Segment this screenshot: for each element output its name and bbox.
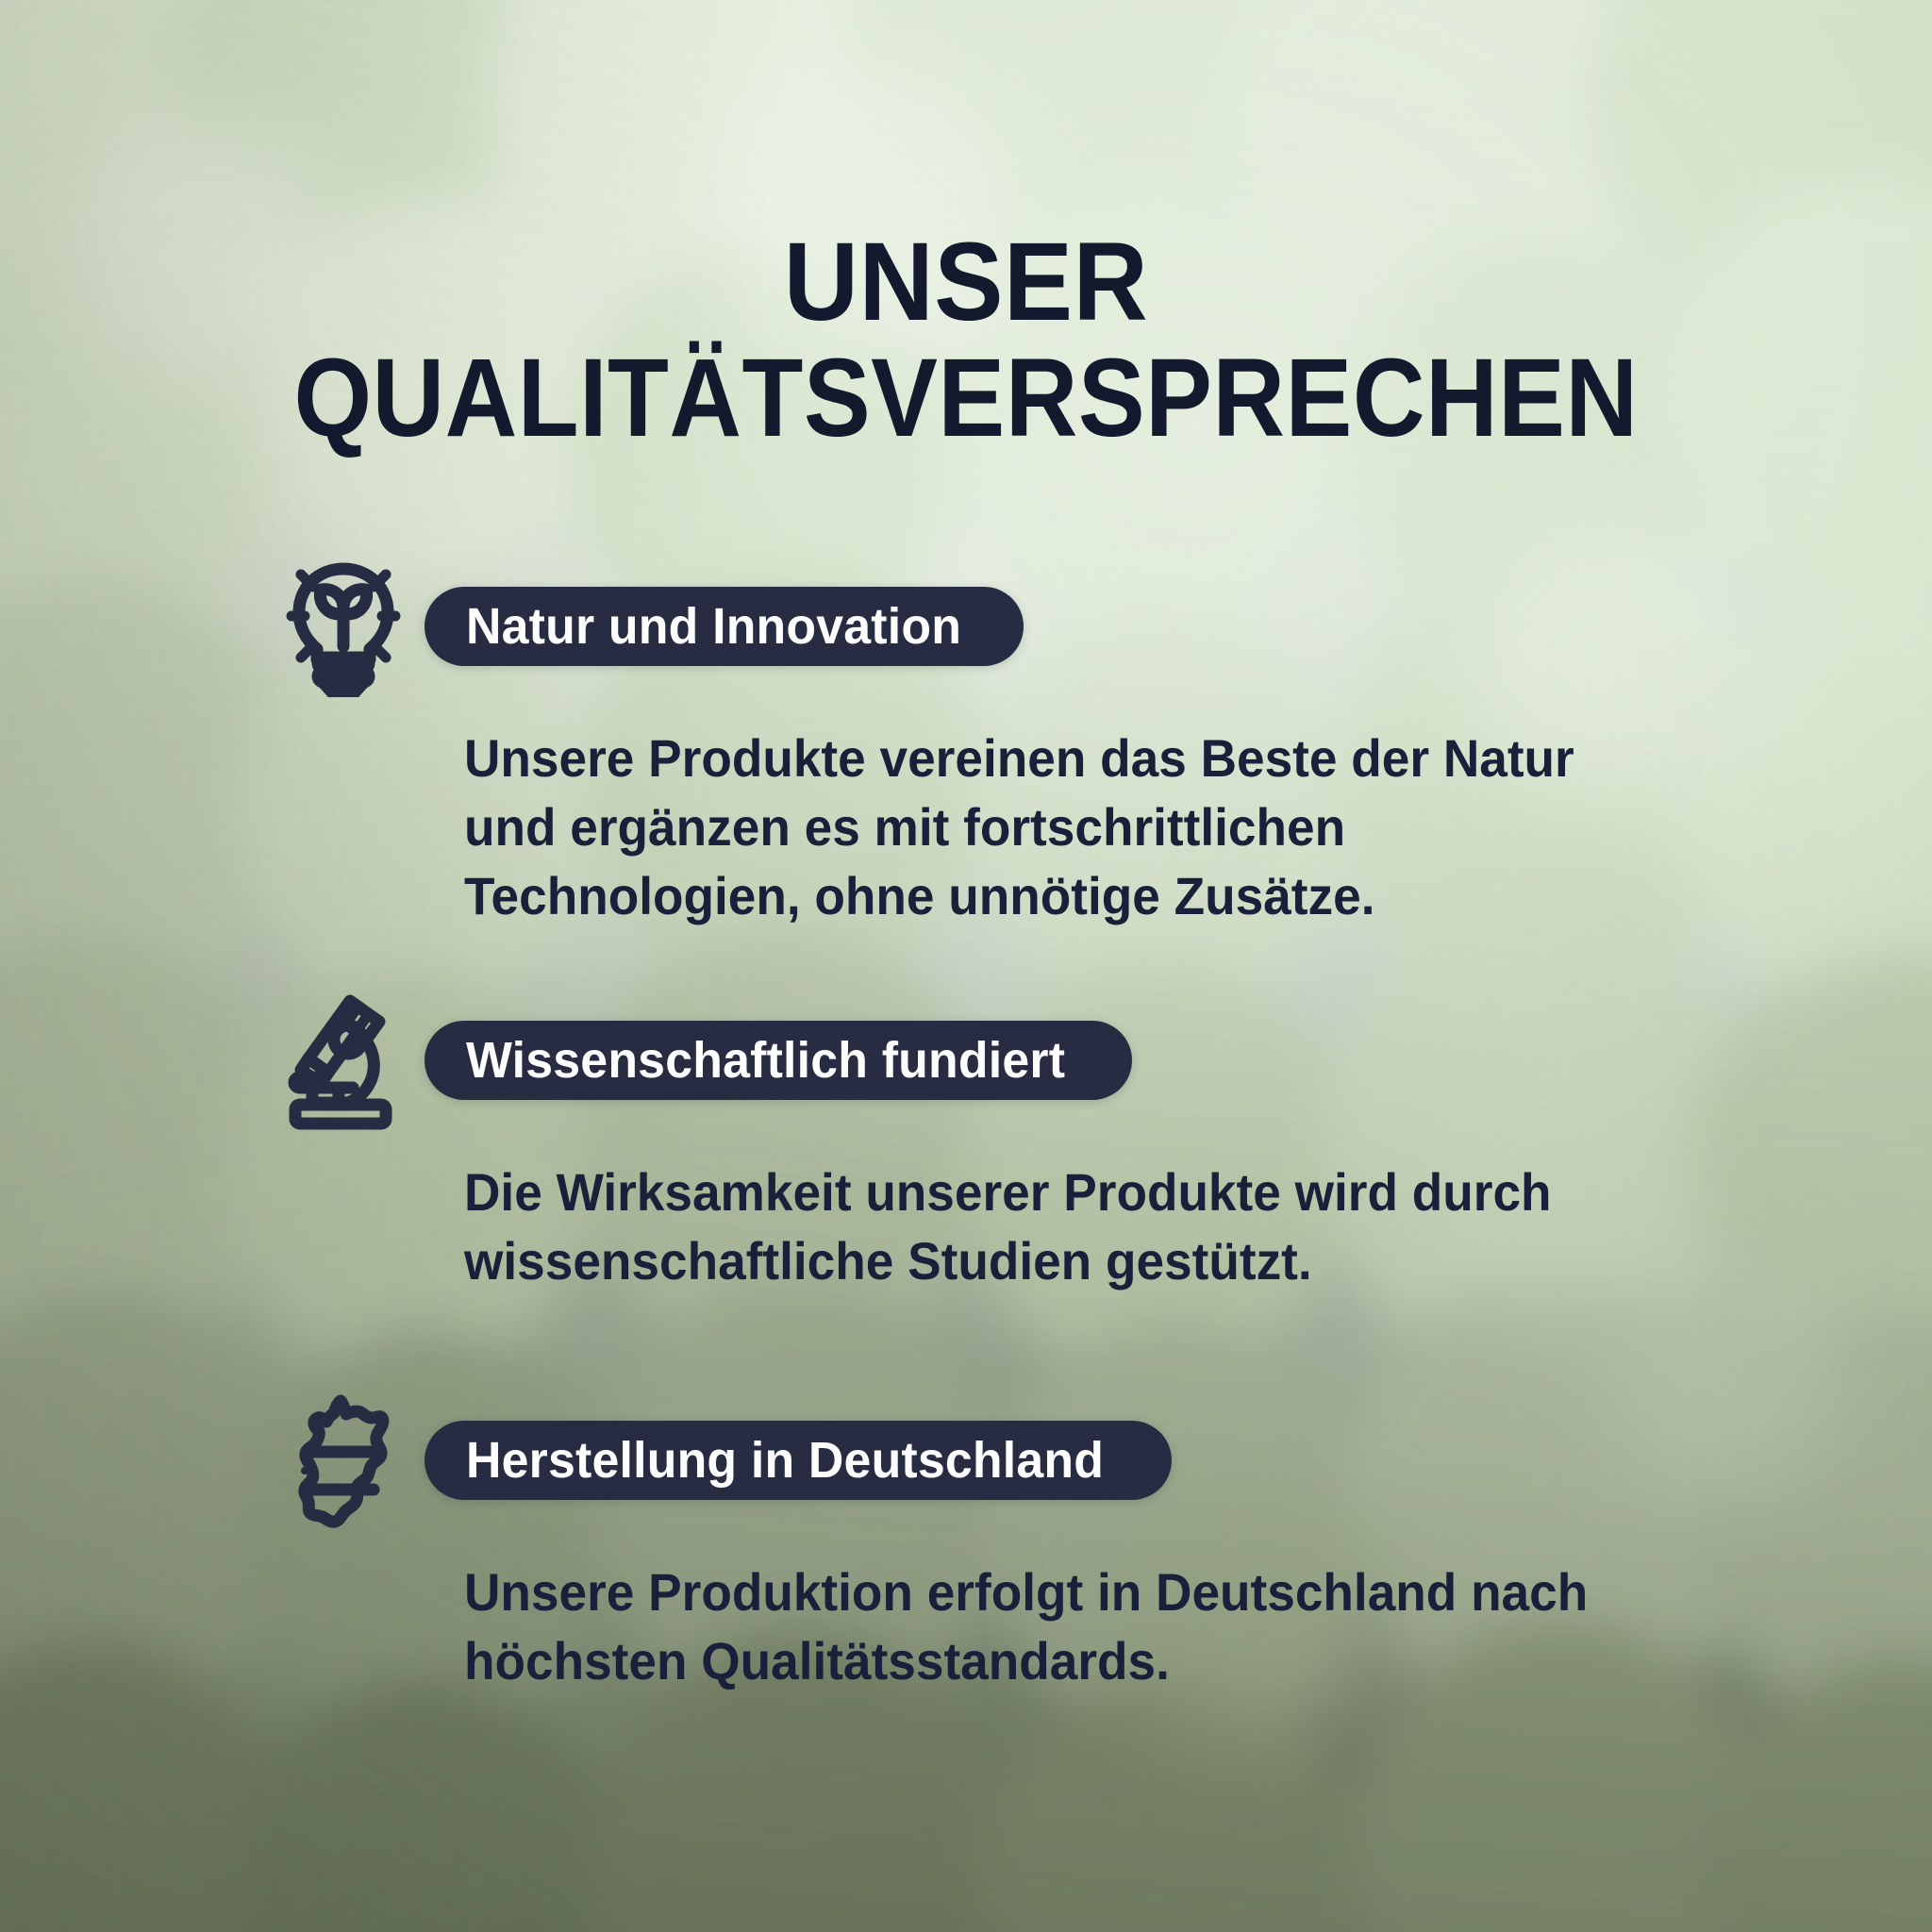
- feature-herstellung-in-deutschland: Herstellung in Deutschland Unsere Produk…: [0, 1389, 1932, 1696]
- feature-header: Wissenschaftlich fundiert: [0, 989, 1932, 1132]
- feature-body-text: Unsere Produktion erfolgt in Deutschland…: [464, 1558, 1639, 1696]
- microscope-icon: [283, 989, 404, 1132]
- feature-natur-und-innovation: Natur und Innovation Unsere Produkte ver…: [0, 555, 1932, 930]
- feature-badge-label: Herstellung in Deutschland: [466, 1435, 1104, 1486]
- lightbulb-leaf-icon: [283, 555, 404, 698]
- feature-header: Herstellung in Deutschland: [0, 1389, 1932, 1532]
- feature-badge: Wissenschaftlich fundiert: [425, 1021, 1132, 1100]
- feature-badge: Natur und Innovation: [425, 587, 1024, 666]
- feature-badge: Herstellung in Deutschland: [425, 1421, 1172, 1500]
- feature-body-text: Unsere Produkte vereinen das Beste der N…: [464, 724, 1639, 930]
- page-title-line-2: QUALITÄTSVERSPRECHEN: [96, 341, 1835, 457]
- feature-body: Unsere Produkte vereinen das Beste der N…: [0, 724, 1932, 930]
- feature-wissenschaftlich-fundiert: Wissenschaftlich fundiert Die Wirksamkei…: [0, 989, 1932, 1296]
- feature-body-text: Die Wirksamkeit unserer Produkte wird du…: [464, 1158, 1639, 1296]
- page-title-line-1: UNSER: [68, 225, 1865, 341]
- page-title: UNSER QUALITÄTSVERSPRECHEN: [0, 225, 1932, 456]
- feature-body: Die Wirksamkeit unserer Produkte wird du…: [0, 1158, 1932, 1296]
- feature-badge-label: Wissenschaftlich fundiert: [466, 1035, 1065, 1086]
- content-layer: UNSER QUALITÄTSVERSPRECHEN: [0, 0, 1932, 1932]
- feature-badge-label: Natur und Innovation: [466, 601, 961, 652]
- feature-header: Natur und Innovation: [0, 555, 1932, 698]
- feature-body: Unsere Produktion erfolgt in Deutschland…: [0, 1558, 1932, 1696]
- germany-map-icon: [283, 1389, 404, 1532]
- promo-canvas: UNSER QUALITÄTSVERSPRECHEN: [0, 0, 1932, 1932]
